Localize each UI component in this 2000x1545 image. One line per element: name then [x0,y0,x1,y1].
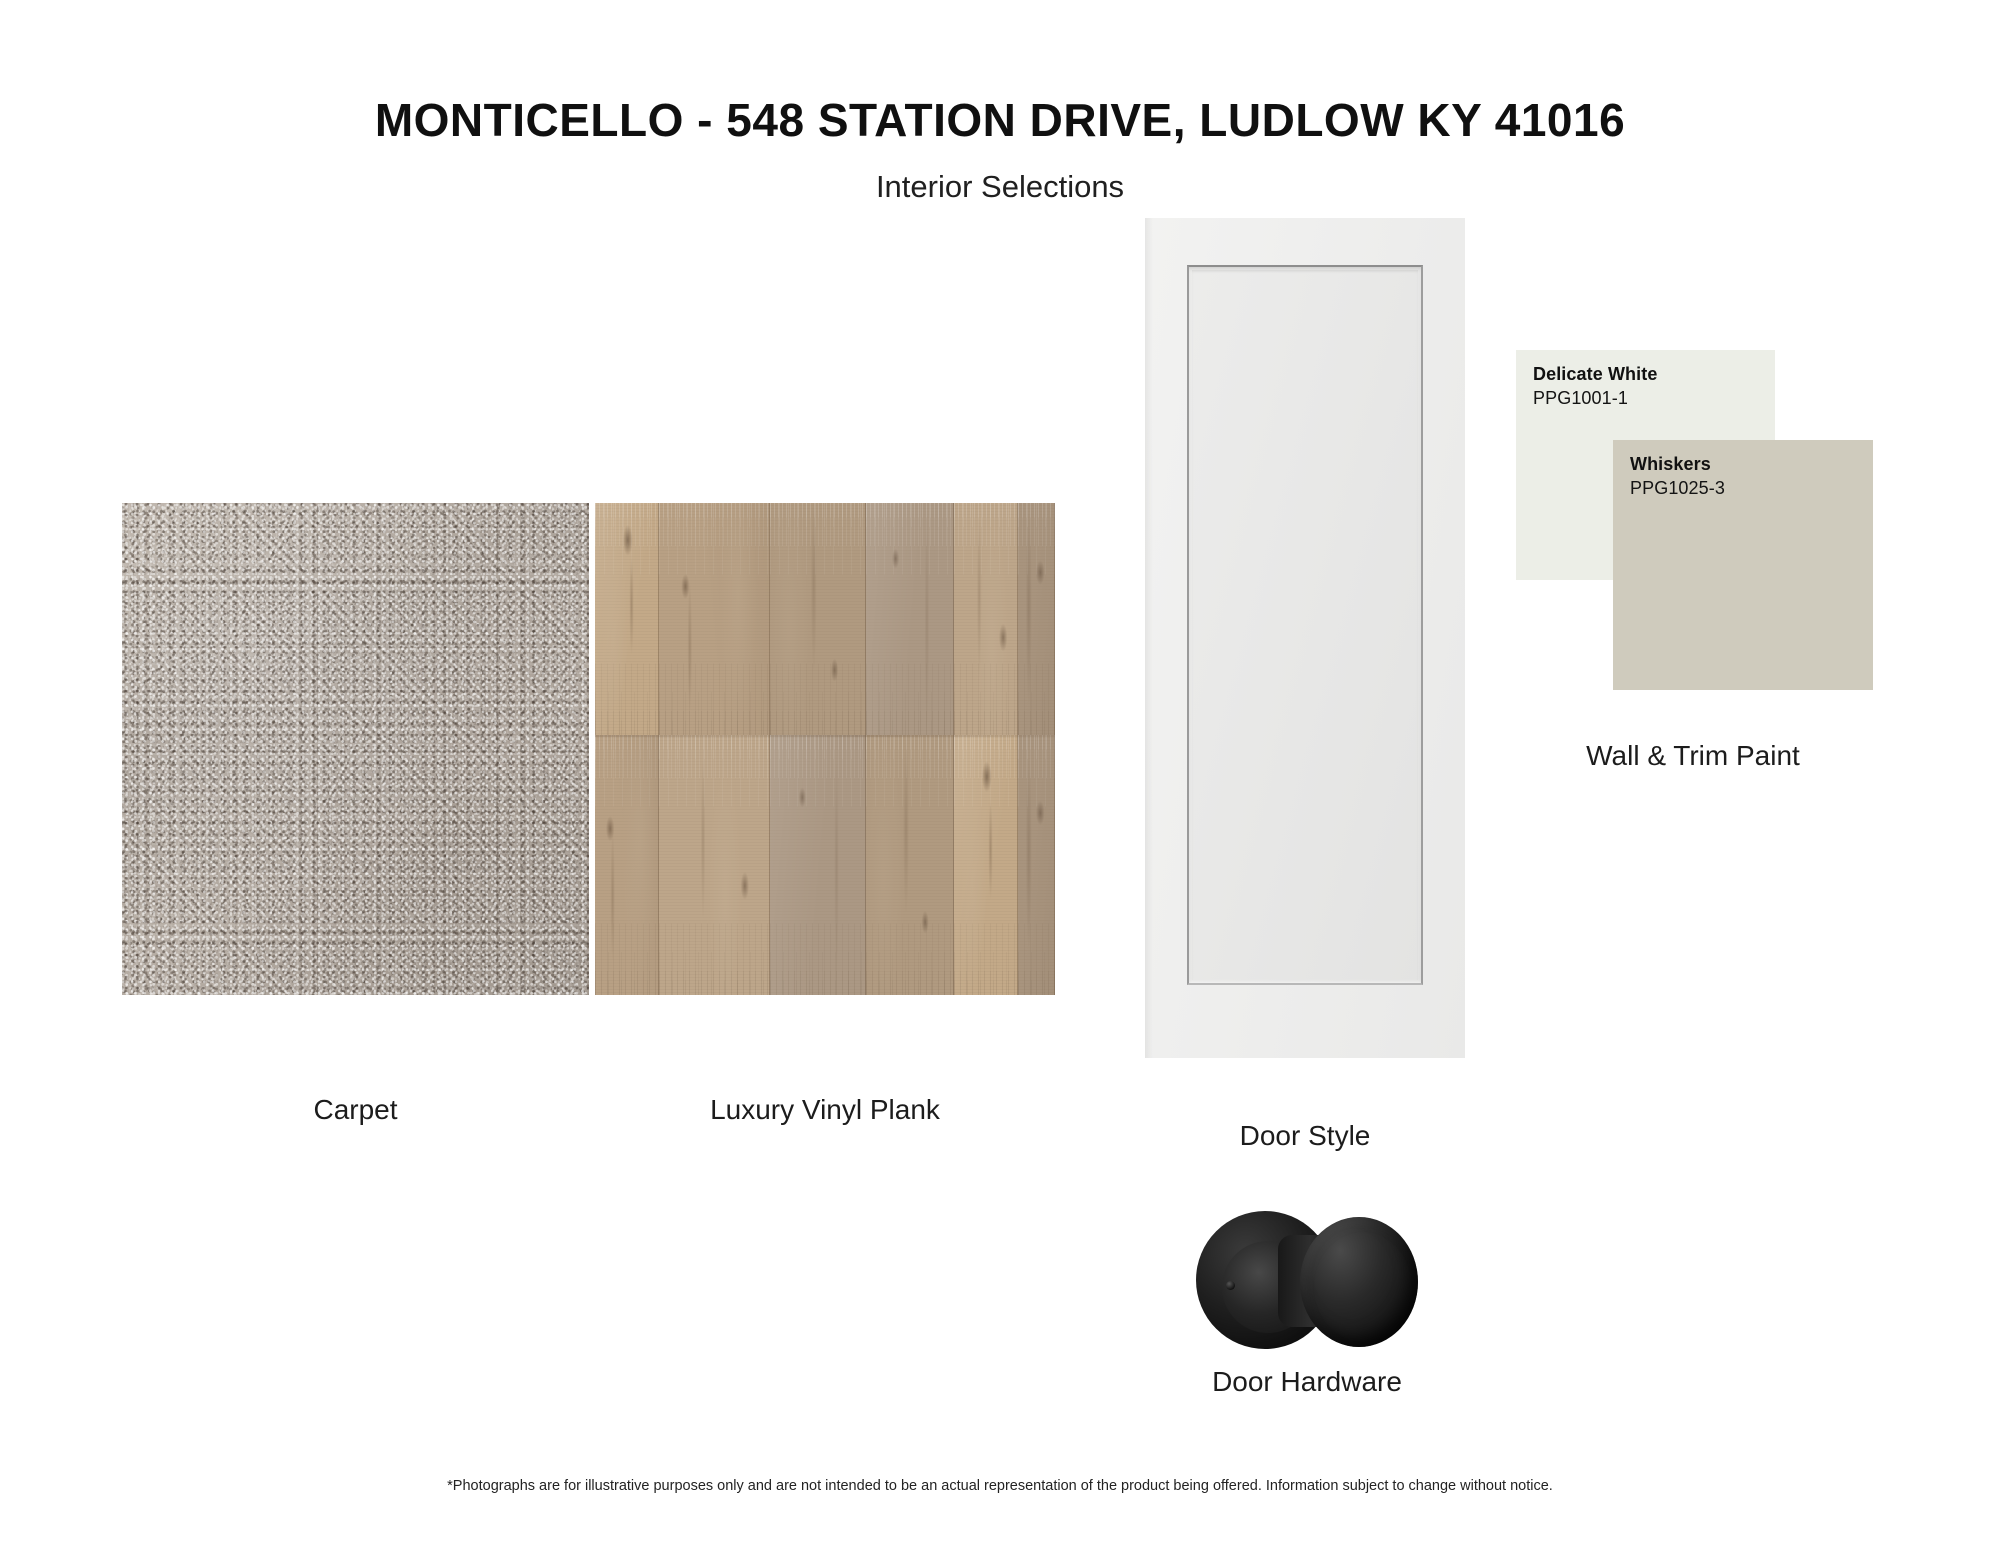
door-hardware-caption: Door Hardware [1122,1366,1492,1398]
paint-swatch-name: Whiskers [1630,454,1711,475]
door-edge-shadow [1145,218,1153,1058]
page-title: MONTICELLO - 548 STATION DRIVE, LUDLOW K… [0,96,2000,144]
lvp-plank [770,735,867,995]
lvp-plank-row-bottom [595,735,1055,995]
luxury-vinyl-plank-caption: Luxury Vinyl Plank [595,1094,1055,1126]
lvp-plank [659,735,769,995]
lvp-plank [1018,503,1055,735]
door-knob-screw [1226,1281,1235,1290]
lvp-plank [770,503,867,735]
footer-disclaimer: *Photographs are for illustrative purpos… [0,1478,2000,1494]
paint-swatch-code: PPG1001-1 [1533,388,1628,409]
lvp-plank [954,735,1018,995]
lvp-plank [1018,735,1055,995]
paint-swatch-code: PPG1025-3 [1630,478,1725,499]
door-recessed-panel [1187,265,1423,985]
paint-swatch-whiskers: Whiskers PPG1025-3 [1613,440,1873,690]
lvp-plank [954,503,1018,735]
luxury-vinyl-plank-sample-image [595,503,1055,995]
wall-trim-paint-caption: Wall & Trim Paint [1513,740,1873,772]
door-style-caption: Door Style [1145,1120,1465,1152]
carpet-caption: Carpet [122,1094,589,1126]
lvp-butt-seam [595,735,1055,737]
lvp-plank-row-top [595,503,1055,735]
door-hardware-sample-image [1192,1205,1422,1355]
door-panel-inner-bevel [1192,270,1418,980]
paint-swatch-name: Delicate White [1533,364,1657,385]
lvp-plank [866,735,953,995]
carpet-sample-image [122,503,589,995]
door-style-sample-image [1145,218,1465,1058]
door-knob-face [1300,1217,1418,1347]
lvp-plank [595,735,659,995]
lvp-plank [659,503,769,735]
lvp-plank [866,503,953,735]
page-subtitle: Interior Selections [0,170,2000,204]
lvp-plank [595,503,659,735]
